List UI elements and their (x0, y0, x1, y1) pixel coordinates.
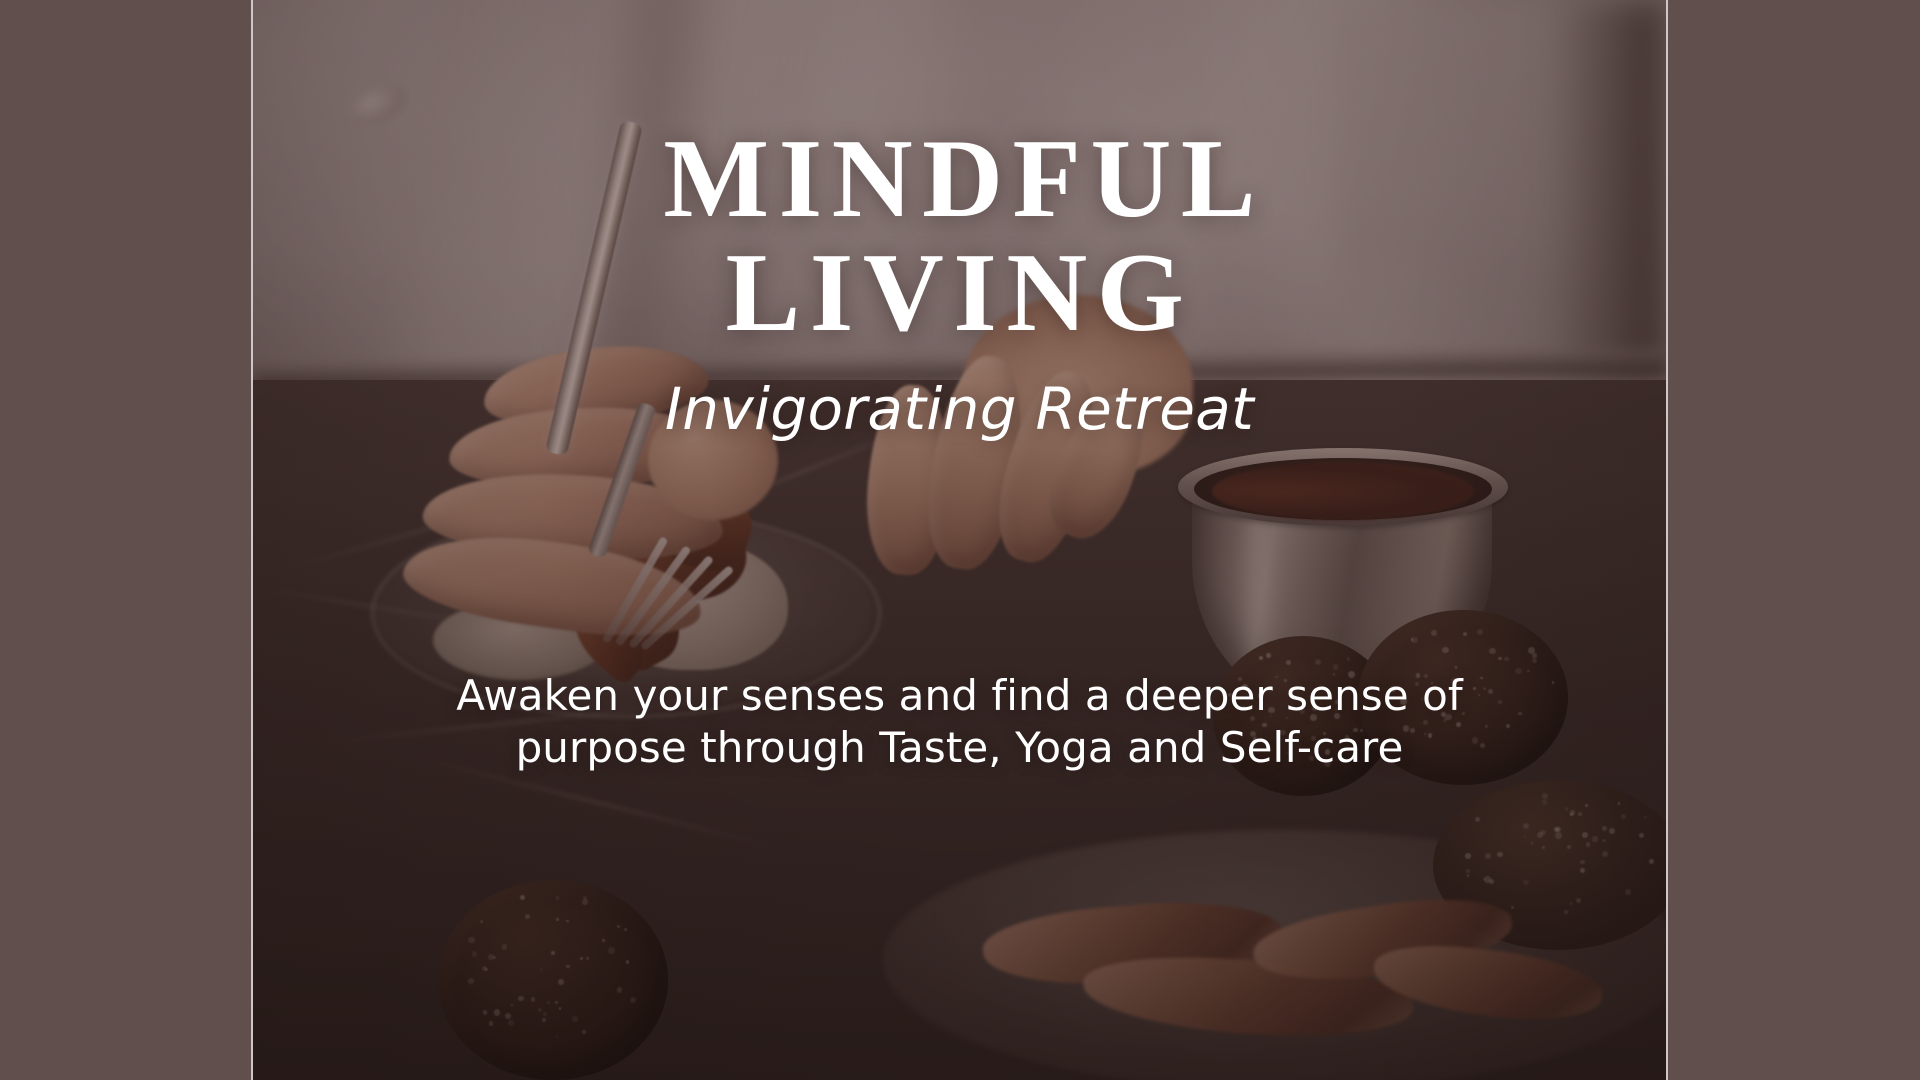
hero-poster: MINDFUL LIVING Invigorating Retreat Awak… (251, 0, 1668, 1080)
slide-frame: MINDFUL LIVING Invigorating Retreat Awak… (0, 0, 1920, 1080)
vignette-overlay (253, 0, 1666, 1080)
background-photo (253, 0, 1666, 1080)
